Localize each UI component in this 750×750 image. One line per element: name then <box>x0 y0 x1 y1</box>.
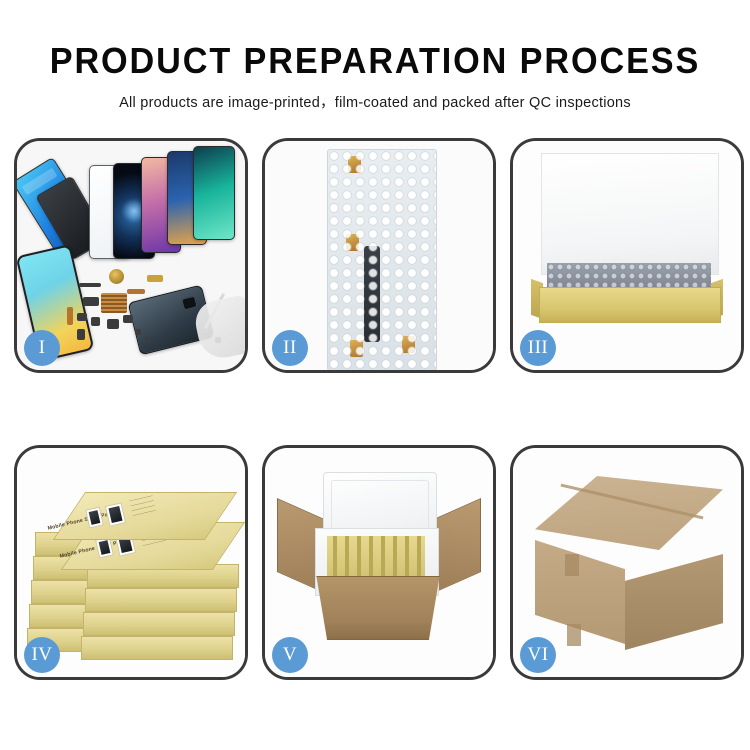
stacked-box-r4 <box>81 636 233 660</box>
carton-front-panel <box>311 576 445 640</box>
step-badge-3: III <box>520 330 556 366</box>
part-screw-b <box>145 337 150 342</box>
process-step-grid: I II <box>14 138 736 680</box>
part-gold-flex <box>147 275 163 282</box>
process-step-4: Mobile Phone Spare Parts ——————— ———————… <box>14 445 248 680</box>
process-step-6: VI <box>510 445 744 680</box>
part-ic-grid <box>101 293 127 313</box>
step-badge-1: I <box>24 330 60 366</box>
product-preparation-process-infographic: PRODUCT PREPARATION PROCESS All products… <box>0 0 750 750</box>
carton-tape-lower <box>567 624 581 646</box>
box-stack: Mobile Phone Spare Parts ——————— ———————… <box>25 470 239 666</box>
box-yellow-front <box>539 287 721 323</box>
phone-screen-teal <box>193 146 235 240</box>
carton-tape-upper <box>565 554 579 576</box>
part-flex-cable <box>127 289 145 294</box>
carton-right-face <box>625 554 723 650</box>
process-step-5: V <box>262 445 496 680</box>
step-badge-2: II <box>272 330 308 366</box>
header: PRODUCT PREPARATION PROCESS All products… <box>0 0 750 112</box>
connector-mid <box>346 234 359 251</box>
part-module-d <box>107 319 119 329</box>
part-module-c <box>91 317 100 326</box>
step-badge-4: IV <box>24 637 60 673</box>
part-module-a <box>83 297 99 306</box>
process-step-3: III <box>510 138 744 373</box>
part-speaker <box>109 269 124 284</box>
box-white-lid <box>541 153 719 275</box>
packed-yellow-boxes <box>327 536 425 578</box>
part-screw-a <box>135 329 141 335</box>
part-module-b <box>77 313 87 321</box>
page-title: PRODUCT PREPARATION PROCESS <box>19 42 732 80</box>
bubble-wrap-bag <box>327 149 437 370</box>
connector-bottom-left <box>350 340 363 357</box>
part-module-e <box>123 315 133 323</box>
stacked-box-r2 <box>85 588 237 612</box>
stacked-box-r3 <box>83 612 235 636</box>
part-connector-strip <box>79 283 101 287</box>
process-step-1: I <box>14 138 248 373</box>
part-antenna-cable <box>67 307 73 325</box>
process-step-2: II <box>262 138 496 373</box>
wrapped-flex-cable <box>364 246 380 342</box>
foam-packing <box>547 263 711 289</box>
connector-bottom-right <box>402 336 415 353</box>
part-camera <box>77 329 85 340</box>
wrapped-screen <box>342 168 418 354</box>
page-subtitle: All products are image-printed，film-coat… <box>0 91 750 112</box>
step-badge-6: VI <box>520 637 556 673</box>
connector-top <box>348 156 361 173</box>
step-badge-5: V <box>272 637 308 673</box>
